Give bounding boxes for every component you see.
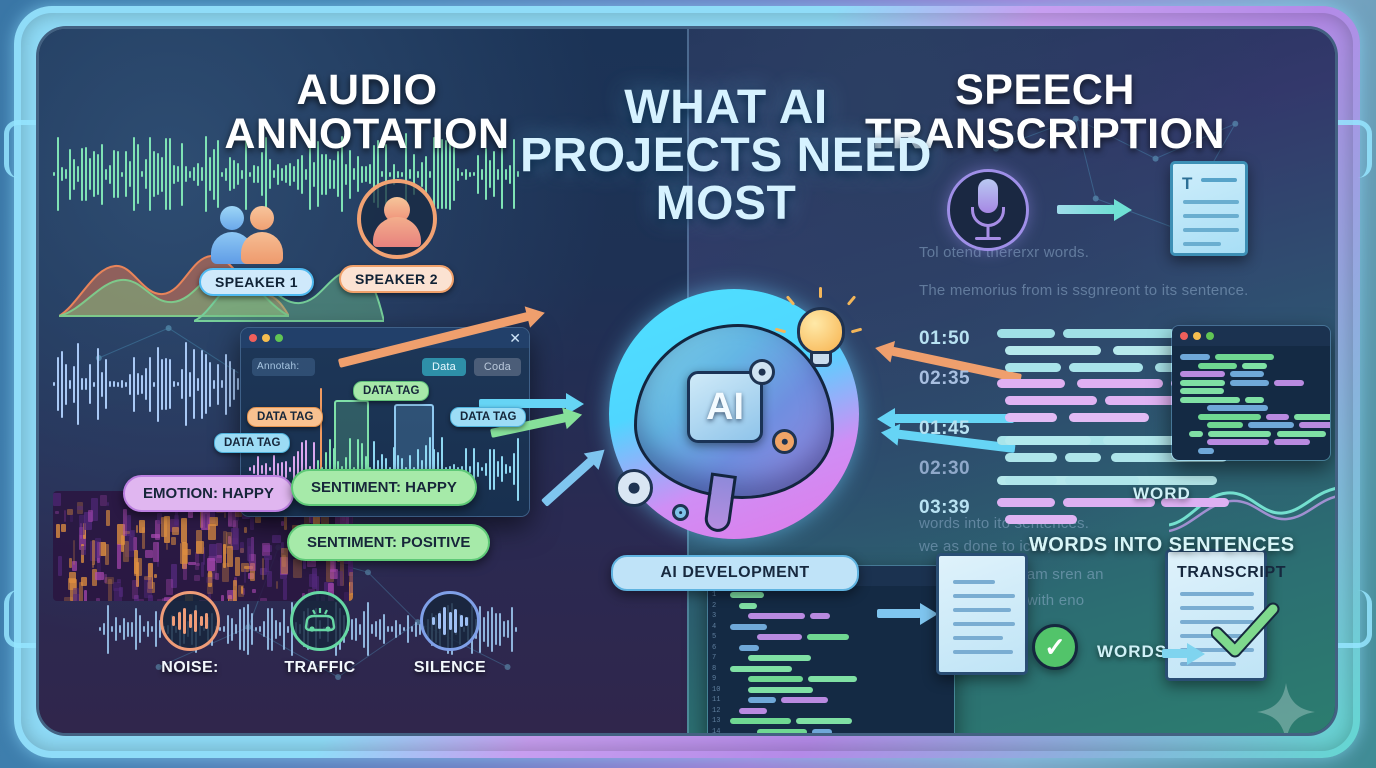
transcript-line bbox=[1065, 453, 1101, 462]
doc-line bbox=[1183, 242, 1221, 246]
sparkle-icon bbox=[1257, 683, 1315, 736]
code-token bbox=[748, 655, 811, 661]
emotion-pill[interactable]: EMOTION: HAPPY bbox=[123, 475, 294, 512]
transcript-line bbox=[1005, 363, 1061, 372]
code-content bbox=[1172, 346, 1330, 461]
speaker-2-avatar bbox=[357, 179, 437, 259]
mic-base bbox=[975, 237, 1001, 240]
audio-class-traffic[interactable]: TRAFFIC bbox=[265, 591, 375, 677]
doc-line bbox=[1201, 178, 1237, 182]
lightbulb-icon bbox=[797, 307, 845, 355]
arrow-right-icon bbox=[1057, 205, 1115, 214]
code-token bbox=[1180, 380, 1225, 386]
minimize-dot-icon[interactable] bbox=[262, 334, 270, 342]
bulb-ray bbox=[819, 287, 822, 298]
silence-ring bbox=[420, 591, 480, 651]
close-dot-icon[interactable] bbox=[249, 334, 257, 342]
code-token bbox=[1266, 414, 1289, 420]
timestamp-1: 01:50 bbox=[919, 328, 970, 350]
doc-line bbox=[1183, 214, 1239, 218]
transcript-line bbox=[1005, 413, 1057, 422]
code-token bbox=[1274, 439, 1310, 445]
page-title-center: WHAT AI PROJECTS NEED MOST bbox=[491, 84, 961, 228]
transcript-line bbox=[997, 498, 1055, 507]
doc-line bbox=[953, 580, 995, 584]
maximize-dot-icon[interactable] bbox=[275, 334, 283, 342]
transcript-line bbox=[1077, 379, 1163, 388]
code-token bbox=[730, 624, 767, 630]
code-token bbox=[757, 729, 807, 735]
code-token bbox=[1198, 448, 1214, 454]
timestamp-4: 02:30 bbox=[919, 458, 970, 480]
code-token bbox=[757, 634, 802, 640]
transcript-label: TRANSCRIPT bbox=[1177, 564, 1286, 582]
line-number: 8 bbox=[712, 665, 716, 673]
gear-icon bbox=[749, 359, 775, 385]
code-token bbox=[748, 613, 805, 619]
code-token bbox=[730, 718, 791, 724]
code-token bbox=[1207, 405, 1268, 411]
transcript-line bbox=[997, 329, 1055, 338]
line-number: 5 bbox=[712, 633, 716, 641]
speaker-1-badge[interactable]: SPEAKER 1 bbox=[199, 268, 314, 296]
code-token bbox=[748, 676, 803, 682]
annotation-input[interactable]: Annotah: bbox=[252, 358, 315, 376]
doc-line bbox=[1180, 592, 1254, 596]
code-token bbox=[807, 634, 849, 640]
words-arrow-label: WORDS bbox=[1097, 642, 1167, 662]
code-token bbox=[730, 666, 792, 672]
transcript-line bbox=[1005, 515, 1077, 524]
waveform-icon bbox=[172, 606, 208, 636]
data-button[interactable]: Data bbox=[422, 358, 466, 376]
line-number: 3 bbox=[712, 612, 716, 620]
text-document-icon[interactable]: T bbox=[1170, 161, 1248, 256]
speaker-2-badge[interactable]: SPEAKER 2 bbox=[339, 265, 454, 293]
infographic-stage: AUDIO ANNOTATION SPEAKER 1 bbox=[0, 0, 1376, 768]
transcript-line bbox=[1005, 453, 1057, 462]
code-token bbox=[1277, 431, 1326, 437]
gear-icon bbox=[672, 504, 689, 521]
transcript-line bbox=[1005, 346, 1101, 355]
code-token bbox=[1208, 431, 1271, 437]
line-number: 14 bbox=[712, 728, 720, 736]
maximize-dot-icon[interactable] bbox=[1206, 332, 1214, 340]
code-token bbox=[1215, 354, 1274, 360]
traffic-label: TRAFFIC bbox=[265, 659, 375, 677]
traffic-ring bbox=[290, 591, 350, 651]
close-icon[interactable]: ✕ bbox=[509, 331, 521, 345]
doc-line bbox=[953, 608, 1011, 612]
transcript-line bbox=[1005, 476, 1057, 485]
code-token bbox=[1180, 354, 1210, 360]
line-number: 11 bbox=[712, 696, 720, 704]
ai-development-badge[interactable]: AI DEVELOPMENT bbox=[611, 555, 859, 591]
mic-arc bbox=[971, 207, 1005, 227]
checkmark-icon: ✓ bbox=[1032, 624, 1078, 670]
code-token bbox=[1248, 422, 1294, 428]
minimize-dot-icon[interactable] bbox=[1193, 332, 1201, 340]
sentiment-happy-pill[interactable]: SENTIMENT: HAPPY bbox=[291, 469, 477, 506]
json-code-window[interactable] bbox=[1171, 325, 1331, 461]
line-number: 12 bbox=[712, 707, 720, 715]
words-into-sentences-emphasis: WORDS INTO SENTENCES bbox=[1029, 534, 1294, 557]
person-icon-orange bbox=[240, 206, 284, 264]
transcript-line bbox=[1005, 396, 1097, 405]
code-token bbox=[1189, 431, 1203, 437]
code-token bbox=[1180, 397, 1240, 403]
doc-line bbox=[953, 650, 1013, 654]
code-token bbox=[1294, 414, 1331, 420]
code-token bbox=[1180, 371, 1225, 377]
transcript-line bbox=[1069, 363, 1143, 372]
bulb-ray bbox=[851, 328, 862, 334]
arrow-to-document bbox=[877, 609, 921, 618]
ai-chip: AI bbox=[687, 371, 763, 443]
line-number: 7 bbox=[712, 654, 716, 662]
big-checkmark-icon bbox=[1211, 601, 1281, 661]
transcript-line bbox=[1065, 476, 1139, 485]
line-number: 6 bbox=[712, 644, 716, 652]
word-label: WORD bbox=[1133, 484, 1191, 504]
noise-ring bbox=[160, 591, 220, 651]
code-token bbox=[808, 676, 857, 682]
transcript-line bbox=[1005, 436, 1091, 445]
waveform-decoration-right bbox=[1169, 481, 1338, 537]
code-token bbox=[1245, 397, 1264, 403]
bulb-ray bbox=[847, 295, 856, 305]
waveform-icon bbox=[432, 606, 468, 636]
arrow-words-to-transcript bbox=[1162, 649, 1188, 658]
code-token bbox=[739, 603, 757, 609]
silence-label: SILENCE bbox=[395, 659, 505, 677]
code-token bbox=[1198, 363, 1237, 369]
code-token bbox=[810, 613, 830, 619]
doc-line bbox=[1183, 200, 1239, 204]
timestamp-5: 03:39 bbox=[919, 497, 970, 519]
code-token bbox=[1230, 371, 1264, 377]
doc-line bbox=[1183, 228, 1239, 232]
gear-icon bbox=[772, 429, 797, 454]
code-token bbox=[748, 687, 813, 693]
doc-line bbox=[953, 622, 1015, 626]
code-token bbox=[1274, 380, 1304, 386]
sentiment-positive-pill[interactable]: SENTIMENT: POSITIVE bbox=[287, 524, 490, 561]
code-token bbox=[781, 697, 828, 703]
code-token bbox=[1230, 380, 1269, 386]
code-token bbox=[739, 708, 767, 714]
data-tag-outer[interactable]: DATA TAG bbox=[214, 433, 290, 453]
car-icon bbox=[302, 607, 338, 635]
data-tag-orange[interactable]: DATA TAG bbox=[247, 407, 323, 427]
code-token bbox=[1242, 363, 1267, 369]
audio-class-noise[interactable]: NOISE: bbox=[135, 591, 245, 677]
transcript-line bbox=[1069, 413, 1149, 422]
ghost-line-2: The memorius from is ssgnreont to its se… bbox=[919, 282, 1249, 299]
code-token bbox=[1180, 388, 1224, 394]
speaker-1-avatars bbox=[184, 192, 329, 264]
doc-letter-t: T bbox=[1182, 174, 1192, 194]
noise-label: NOISE: bbox=[135, 659, 245, 677]
coda-button[interactable]: Coda bbox=[474, 358, 521, 376]
ai-brain-group: AI AI DEVELOPMENT bbox=[579, 279, 889, 599]
waveform-middle bbox=[53, 339, 243, 429]
line-number: 2 bbox=[712, 602, 716, 610]
code-token bbox=[748, 697, 776, 703]
source-document-icon[interactable] bbox=[936, 553, 1028, 675]
line-number: 13 bbox=[712, 717, 720, 725]
data-tag-green[interactable]: DATA TAG bbox=[353, 381, 429, 401]
line-number: 4 bbox=[712, 623, 716, 631]
line-number: 9 bbox=[712, 675, 716, 683]
data-tag-blue[interactable]: DATA TAG bbox=[450, 407, 526, 427]
line-number: 10 bbox=[712, 686, 720, 694]
close-dot-icon[interactable] bbox=[1180, 332, 1188, 340]
code-token bbox=[796, 718, 852, 724]
code-token bbox=[1198, 414, 1261, 420]
timestamp-3: 01:45 bbox=[919, 418, 970, 440]
infographic-canvas: AUDIO ANNOTATION SPEAKER 1 bbox=[36, 26, 1338, 736]
window-titlebar bbox=[1172, 326, 1330, 346]
doc-line bbox=[953, 594, 1015, 598]
audio-class-silence[interactable]: SILENCE bbox=[395, 591, 505, 677]
timestamp-2: 02:35 bbox=[919, 368, 970, 390]
gear-icon bbox=[615, 469, 653, 507]
lightbulb-base bbox=[810, 351, 832, 367]
code-token bbox=[1207, 439, 1269, 445]
doc-line bbox=[953, 636, 1003, 640]
speaker-2-group: SPEAKER 2 bbox=[324, 179, 469, 293]
transcript-line bbox=[997, 379, 1065, 388]
code-token bbox=[739, 645, 759, 651]
code-token bbox=[1299, 422, 1331, 428]
code-token bbox=[812, 729, 832, 735]
transcript-line bbox=[1063, 329, 1175, 338]
speaker-1-group: SPEAKER 1 bbox=[184, 192, 329, 296]
code-token bbox=[1207, 422, 1243, 428]
